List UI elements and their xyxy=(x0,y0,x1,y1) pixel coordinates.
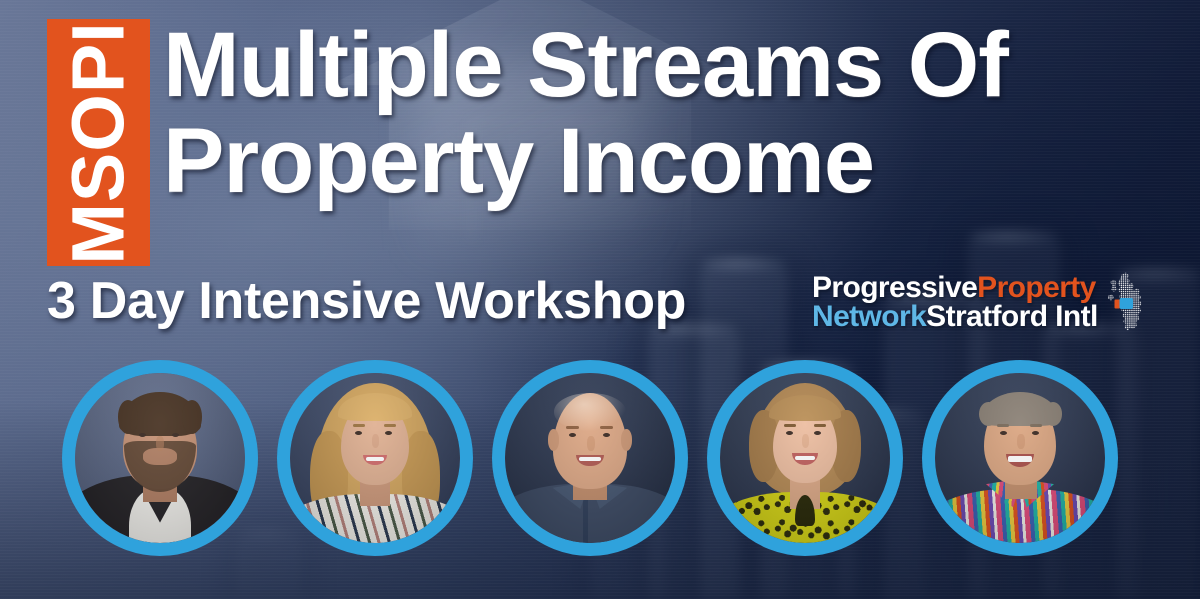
msopi-badge: MSOPI xyxy=(47,19,150,266)
logo-stratford-intl-text: Stratford Intl xyxy=(926,300,1098,333)
avatar-speaker-3 xyxy=(492,360,688,556)
page-title-line-1: Multiple Streams Of xyxy=(163,20,1008,110)
avatar-speaker-2 xyxy=(277,360,473,556)
page-title-line-2: Property Income xyxy=(163,116,1008,206)
page-title: Multiple Streams Of Property Income xyxy=(163,20,1008,206)
event-banner: MSOPI Multiple Streams Of Property Incom… xyxy=(0,0,1200,599)
progressive-property-logo: ProgressiveProperty NetworkStratford Int… xyxy=(812,274,1152,334)
avatar-speaker-5 xyxy=(922,360,1118,556)
avatar-speaker-4 xyxy=(707,360,903,556)
event-subtitle: 3 Day Intensive Workshop xyxy=(47,275,686,327)
msopi-badge-label: MSOPI xyxy=(62,21,136,264)
uk-map-icon xyxy=(1106,272,1152,334)
avatar-speaker-1 xyxy=(62,360,258,556)
logo-network-text: Network xyxy=(812,300,926,333)
